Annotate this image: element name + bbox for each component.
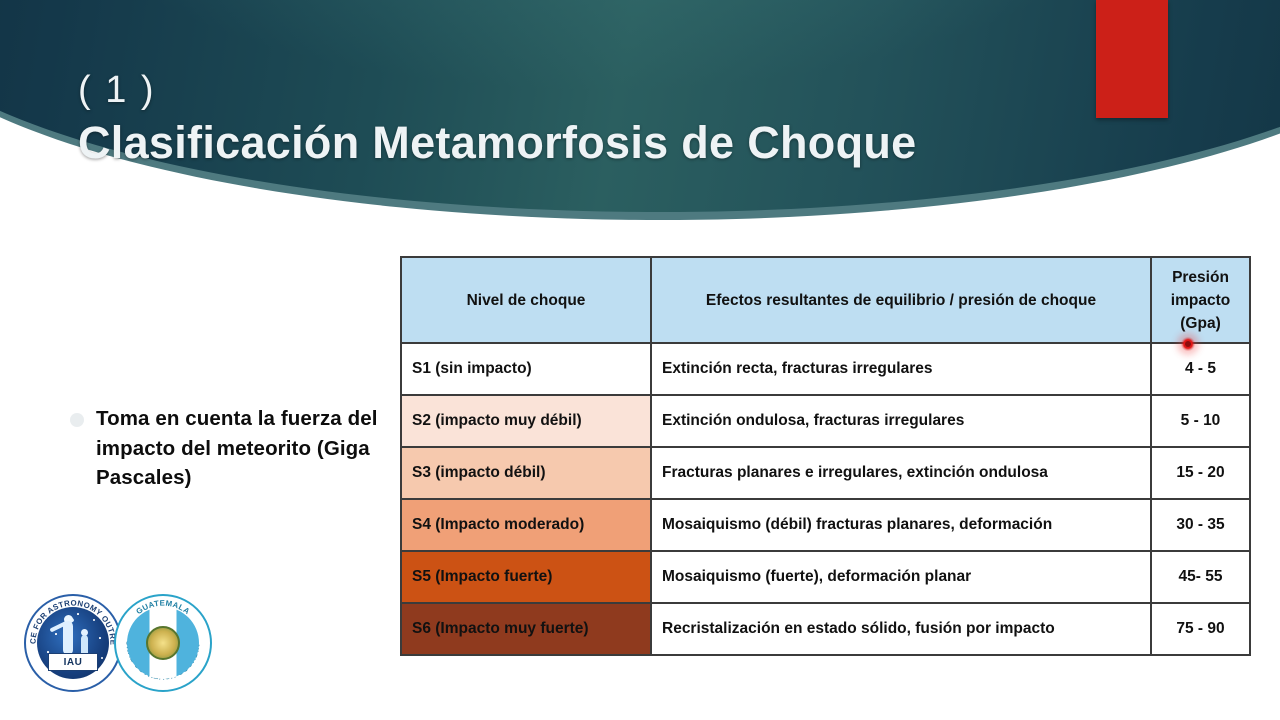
cell-effects: Mosaiquismo (débil) fracturas planares, …	[651, 499, 1151, 551]
page-title: Clasificación Metamorfosis de Choque	[78, 116, 1028, 170]
iau-badge-label: IAU	[48, 653, 98, 671]
cell-pressure: 15 - 20	[1151, 447, 1250, 499]
cell-effects: Recristalización en estado sólido, fusió…	[651, 603, 1151, 655]
table-row: S2 (impacto muy débil) Extinción ondulos…	[401, 395, 1250, 447]
table-row: S3 (impacto débil) Fracturas planares e …	[401, 447, 1250, 499]
column-header-effects: Efectos resultantes de equilibrio / pres…	[651, 257, 1151, 343]
bullet-item: Toma en cuenta la fuerza del impacto del…	[70, 404, 390, 493]
logo-group: OFFICE FOR ASTRONOMY OUTREACH IAU	[16, 588, 216, 700]
cell-pressure: 5 - 10	[1151, 395, 1250, 447]
table-row: S1 (sin impacto) Extinción recta, fractu…	[401, 343, 1250, 395]
bullet-item-label: Toma en cuenta la fuerza del impacto del…	[96, 404, 390, 493]
cursor-core	[1185, 341, 1191, 347]
bullet-marker-icon	[70, 413, 84, 427]
cell-effects: Fracturas planares e irregulares, extinc…	[651, 447, 1151, 499]
column-header-pressure-line-3: (Gpa)	[1162, 312, 1239, 335]
shock-classification-table: Nivel de choque Efectos resultantes de e…	[400, 256, 1251, 656]
cell-level: S6 (Impacto muy fuerte)	[401, 603, 651, 655]
table-header: Nivel de choque Efectos resultantes de e…	[401, 257, 1250, 343]
table-row: S5 (Impacto fuerte) Mosaiquismo (fuerte)…	[401, 551, 1250, 603]
cell-pressure: 75 - 90	[1151, 603, 1250, 655]
table-row: S6 (Impacto muy fuerte) Recristalización…	[401, 603, 1250, 655]
table-header-row: Nivel de choque Efectos resultantes de e…	[401, 257, 1250, 343]
cell-level: S5 (Impacto fuerte)	[401, 551, 651, 603]
iau-outreach-logo-icon: OFFICE FOR ASTRONOMY OUTREACH IAU	[24, 594, 122, 692]
cell-level: S3 (impacto débil)	[401, 447, 651, 499]
figure-adult-shape	[63, 621, 73, 655]
guatemala-outreach-logo-icon: GUATEMALA NATIONAL OUTREACH COORDINATOR	[114, 594, 212, 692]
cell-level: S4 (Impacto moderado)	[401, 499, 651, 551]
cell-effects: Extinción ondulosa, fracturas irregulare…	[651, 395, 1151, 447]
cell-effects: Extinción recta, fracturas irregulares	[651, 343, 1151, 395]
column-header-pressure: Presión impacto (Gpa)	[1151, 257, 1250, 343]
cell-level: S2 (impacto muy débil)	[401, 395, 651, 447]
guatemala-flag-shape	[127, 607, 199, 679]
cell-level: S1 (sin impacto)	[401, 343, 651, 395]
column-header-level: Nivel de choque	[401, 257, 651, 343]
table-body: S1 (sin impacto) Extinción recta, fractu…	[401, 343, 1250, 655]
cell-pressure: 30 - 35	[1151, 499, 1250, 551]
cell-pressure: 4 - 5	[1151, 343, 1250, 395]
red-accent-block	[1096, 0, 1168, 118]
slide-number-label: ( 1 )	[78, 68, 1028, 112]
cursor-click-indicator	[1181, 337, 1195, 351]
title-group: ( 1 ) Clasificación Metamorfosis de Choq…	[78, 68, 1028, 170]
table-row: S4 (Impacto moderado) Mosaiquismo (débil…	[401, 499, 1250, 551]
cell-pressure: 45- 55	[1151, 551, 1250, 603]
column-header-pressure-line-2: impacto	[1162, 289, 1239, 312]
cell-effects: Mosaiquismo (fuerte), deformación planar	[651, 551, 1151, 603]
column-header-pressure-line-1: Presión	[1162, 266, 1239, 289]
guatemala-emblem-shape	[146, 626, 180, 660]
slide-canvas: ( 1 ) Clasificación Metamorfosis de Choq…	[0, 0, 1280, 720]
